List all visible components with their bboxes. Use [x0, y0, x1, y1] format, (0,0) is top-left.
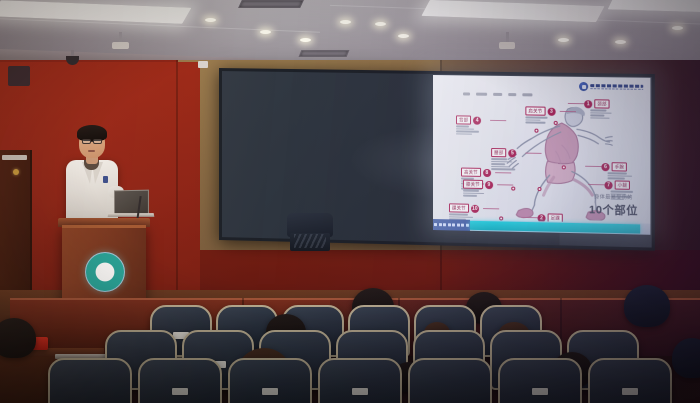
joint-marker [511, 187, 515, 191]
slide-callout: 6手腕 [601, 162, 627, 172]
callout-description [456, 125, 479, 135]
callout-label: 高关节 [461, 168, 481, 177]
joint-marker [537, 187, 541, 191]
callout-number: 5 [508, 149, 516, 157]
hospital-emblem [85, 252, 125, 292]
callout-number: 10 [471, 204, 479, 212]
callout-description [590, 109, 611, 119]
wall-seam [176, 60, 178, 310]
ceiling-projector-icon [499, 42, 515, 49]
ceiling-vent [299, 50, 350, 57]
slide-caption-small: 身体最易受伤的 [589, 193, 638, 201]
slide-callout: 肩关节3 [525, 106, 555, 116]
slide-callout: 1颈部 [584, 99, 610, 108]
door-plate [2, 155, 27, 160]
presenter-mouth [88, 150, 95, 152]
slide-callout: 背部4 [456, 115, 481, 124]
slide-top-text-item [463, 92, 470, 95]
slide-top-text-item [508, 93, 516, 96]
callout-label: 膝关节 [463, 180, 483, 189]
slide-callout: 踝关节10 [449, 203, 479, 213]
joint-marker [534, 129, 538, 133]
auditorium-seat[interactable] [138, 358, 222, 403]
callout-number: 8 [483, 168, 491, 176]
wall-speaker-icon [8, 66, 30, 86]
id-badge [103, 176, 108, 183]
auditorium-seat[interactable] [588, 358, 672, 403]
joint-marker [554, 121, 558, 125]
downlight-icon [300, 38, 311, 42]
downlight-icon [398, 34, 409, 38]
callout-description [608, 172, 632, 179]
callout-number: 6 [601, 163, 609, 171]
callout-label: 颈部 [594, 99, 609, 108]
downlight-icon [558, 38, 569, 42]
callout-label: 手腕 [612, 162, 627, 171]
downlight-icon [205, 18, 216, 22]
callout-number: 9 [485, 180, 493, 188]
callout-number: 1 [584, 100, 592, 108]
stage-chair-mesh [294, 234, 326, 248]
slide-hospital-logo [579, 82, 643, 92]
auditorium-seat[interactable] [228, 358, 312, 403]
eyeglasses-bridge [91, 141, 93, 142]
eyeglasses-icon [93, 139, 102, 144]
callout-label: 踝关节 [449, 203, 469, 212]
callout-leader-line [483, 208, 499, 209]
callout-number: 4 [473, 116, 481, 124]
slide-bar-tag [433, 219, 470, 231]
downlight-icon [615, 40, 626, 44]
audience-member [0, 318, 36, 358]
projected-slide: 肩关节3背部41颈部腰部5高关节8膝关节96手腕7小腿踝关节102足踝 身体最易… [433, 75, 650, 235]
ceiling-projector-icon [112, 42, 129, 49]
callout-description [491, 158, 515, 170]
door-knob-icon[interactable] [13, 169, 19, 175]
slide-top-text-row [463, 92, 532, 96]
slide-callout: 腰部5 [491, 148, 516, 157]
ceiling-vent [238, 0, 304, 8]
slide-caption: 身体最易受伤的 10个部位 [589, 193, 638, 218]
callout-label: 肩关节 [525, 106, 545, 115]
audience-member [624, 285, 670, 327]
downlight-icon [260, 30, 271, 34]
slide-callout: 7小腿 [604, 180, 630, 190]
slide-caption-large: 10个部位 [589, 201, 638, 218]
auditorium-seat[interactable] [48, 358, 132, 403]
slide-callout: 高关节8 [461, 168, 491, 178]
joint-marker [562, 165, 566, 169]
slide-logo-line-cn [590, 84, 643, 88]
auditorium-seat[interactable] [498, 358, 582, 403]
downlight-icon [375, 22, 386, 26]
auditorium-seat[interactable] [408, 358, 492, 403]
screen-mount-clip [198, 61, 208, 68]
slide-callout: 膝关节9 [463, 180, 493, 190]
auditorium-scene: 肩关节3背部41颈部腰部5高关节8膝关节96手腕7小腿踝关节102足踝 身体最易… [0, 0, 700, 403]
slide-top-text-item [522, 93, 532, 96]
callout-description [463, 190, 484, 197]
slide-top-text-item [493, 93, 502, 96]
slide-top-text-item [476, 93, 487, 96]
laptop-keyboard[interactable] [108, 213, 155, 217]
presenter-hair [77, 125, 107, 141]
downlight-icon [340, 20, 351, 24]
callout-number: 3 [547, 107, 555, 115]
presenter-laptop[interactable] [114, 190, 149, 215]
callout-label: 腰部 [491, 148, 506, 157]
slide-logo-line-en [590, 88, 643, 90]
callout-number: 7 [604, 181, 612, 189]
auditorium-seat[interactable] [318, 358, 402, 403]
hospital-logo-mark-icon [579, 82, 588, 91]
callout-label: 背部 [456, 115, 471, 124]
downlight-icon [672, 26, 683, 30]
callout-description [525, 116, 547, 123]
eyeglasses-icon [82, 139, 91, 144]
ceiling [0, 0, 700, 60]
callout-label: 小腿 [615, 180, 631, 189]
audience-member [672, 338, 700, 378]
slide-logo-text [590, 84, 643, 90]
